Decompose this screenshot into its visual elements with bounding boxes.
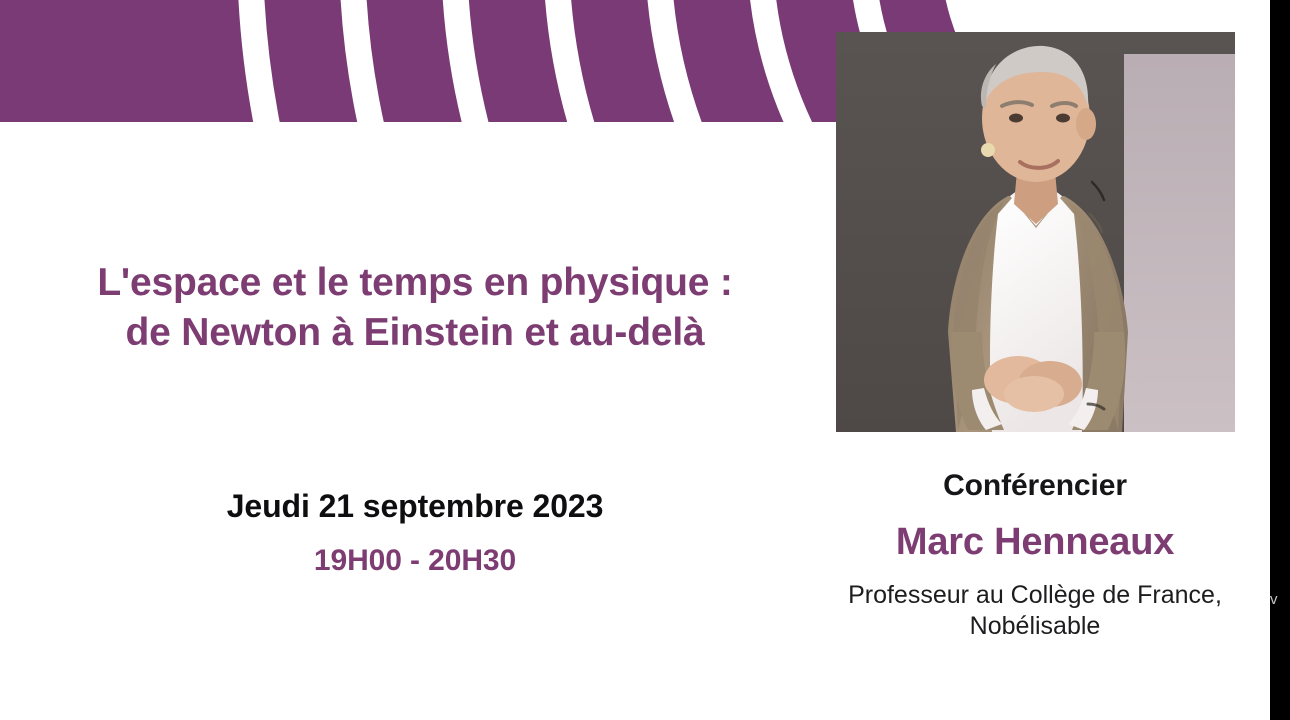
talk-title-line-1: L'espace et le temps en physique : (0, 258, 830, 308)
speaker-portrait-image (836, 32, 1235, 432)
event-time: 19H00 - 20H30 (0, 543, 830, 579)
event-date: Jeudi 21 septembre 2023 (0, 487, 830, 525)
speaker-affiliation: Professeur au Collège de France, Nobélis… (800, 580, 1270, 642)
speaker-affiliation-line-2: Nobélisable (800, 611, 1270, 642)
speaker-name: Marc Henneaux (800, 520, 1270, 566)
title-block: L'espace et le temps en physique : de Ne… (0, 258, 830, 358)
slide-root: L'espace et le temps en physique : de Ne… (0, 0, 1290, 720)
speaker-photo (836, 32, 1235, 432)
right-letterbox-bar: v (1270, 0, 1290, 720)
event-schedule-block: Jeudi 21 septembre 2023 19H00 - 20H30 (0, 487, 830, 579)
talk-title-line-2: de Newton à Einstein et au-delà (0, 308, 830, 358)
speaker-role-label: Conférencier (800, 468, 1270, 504)
speaker-block: Conférencier Marc Henneaux Professeur au… (800, 468, 1270, 642)
page-title: L'espace et le temps en physique : de Ne… (0, 258, 830, 358)
speaker-affiliation-line-1: Professeur au Collège de France, (800, 580, 1270, 611)
page-surface: L'espace et le temps en physique : de Ne… (0, 0, 1270, 720)
edge-watermark-text: v (1270, 592, 1278, 607)
